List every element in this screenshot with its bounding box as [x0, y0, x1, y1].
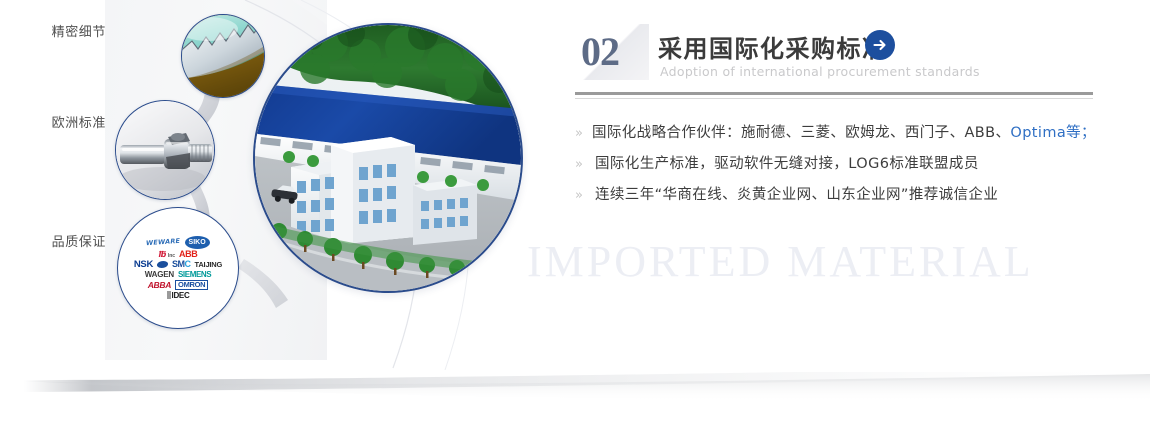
list-item-text: 连续三年“华商在线、炎黄企业网、山东企业网”推荐诚信企业	[595, 180, 998, 211]
chevron-double-right-icon: »	[575, 118, 583, 149]
section-header: 02 采用国际化采购标准 Adoption of international p…	[575, 24, 1095, 86]
page-subtitle: Adoption of international procurement st…	[660, 64, 980, 79]
arrow-right-icon[interactable]	[865, 30, 895, 60]
divider-thick	[575, 92, 1093, 95]
brand-logo-smc: SMC	[172, 260, 191, 269]
right-content-stage: 02 采用国际化采购标准 Adoption of international p…	[575, 0, 1095, 400]
brand-row: WEWARE SIKO	[122, 236, 234, 249]
list-item-text: 国际化战略合作伙伴：施耐德、三菱、欧姆龙、西门子、ABB、Optima等；	[592, 118, 1096, 149]
brand-logo-siemens: SIEMENS	[178, 271, 211, 279]
label-quality-assurance: 品质保证	[10, 231, 106, 250]
brand-logo-abba: ABBA	[148, 281, 171, 290]
brand-logo-taijing: TAIJING	[195, 261, 223, 269]
section-number-badge: 02	[577, 24, 649, 80]
brand-logo-idec: IDEC	[167, 291, 190, 300]
brand-row: ℔ Inc ABB	[122, 250, 234, 259]
left-visual-stage: WEWARE SIKO ℔ Inc ABB NSK SMC TAIJING WA…	[0, 0, 560, 400]
brand-logo-nsk: NSK	[134, 260, 153, 270]
brand-logo-wagen: WAGEN	[145, 271, 174, 279]
label-precision-detail: 精密细节	[10, 21, 106, 40]
label-european-standard: 欧洲标准	[10, 112, 106, 131]
feature-bullet-list: » 国际化战略合作伙伴：施耐德、三菱、欧姆龙、西门子、ABB、Optima等； …	[575, 118, 1095, 211]
list-item-text: 国际化生产标准，驱动软件无缝对接，LOG6标准联盟成员	[595, 149, 979, 180]
precision-detail-photo	[181, 14, 265, 98]
list-item: » 国际化战略合作伙伴：施耐德、三菱、欧姆龙、西门子、ABB、Optima等；	[575, 118, 1095, 149]
brand-logo-abb: ABB	[179, 250, 197, 259]
brand-logos-collage: WEWARE SIKO ℔ Inc ABB NSK SMC TAIJING WA…	[117, 207, 239, 329]
brand-row: IDEC	[122, 291, 234, 300]
highlight-text: Optima等；	[1010, 125, 1096, 141]
watermark-text: IMPORTED MATERIAL	[527, 236, 1127, 287]
brand-row: ABBA OMRON	[122, 280, 234, 291]
brand-logo-omron: OMRON	[175, 280, 208, 291]
chevron-double-right-icon: »	[575, 180, 586, 211]
brand-row: WAGEN SIEMENS	[122, 271, 234, 279]
brand-logo-pi: ℔ Inc	[159, 251, 175, 259]
section-number: 02	[581, 28, 619, 75]
list-item: » 连续三年“华商在线、炎黄企业网、山东企业网”推荐诚信企业	[575, 180, 1095, 211]
page-title: 采用国际化采购标准	[658, 29, 888, 64]
list-item: » 国际化生产标准，驱动软件无缝对接，LOG6标准联盟成员	[575, 149, 1095, 180]
brand-logo-weware: WEWARE	[146, 238, 181, 247]
brand-logo-siko: SIKO	[185, 236, 210, 249]
brand-row: NSK SMC TAIJING	[122, 260, 234, 270]
divider-thin	[575, 98, 1093, 99]
ball-screw-photo	[115, 100, 215, 200]
factory-building-photo	[253, 23, 523, 293]
chevron-double-right-icon: »	[575, 149, 586, 180]
smc-dot-icon	[156, 261, 168, 268]
header-divider	[575, 92, 1093, 99]
